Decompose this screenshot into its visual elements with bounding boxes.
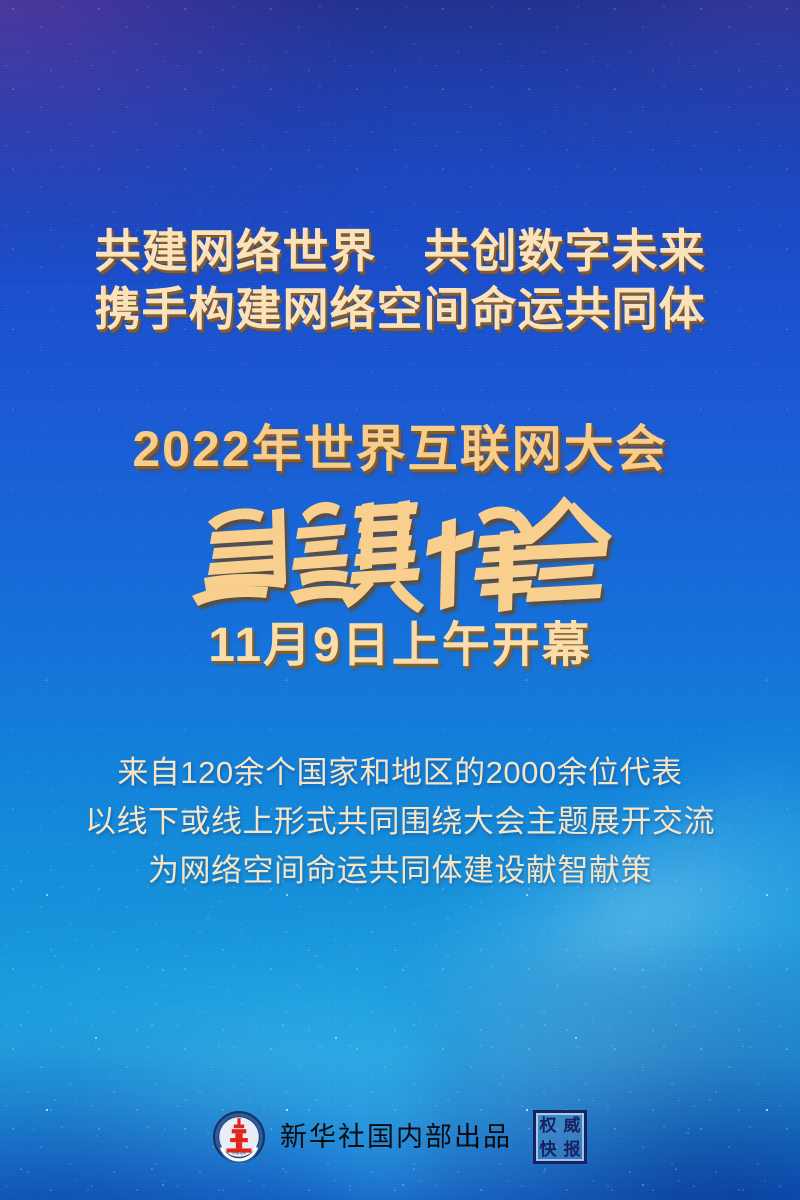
headline-line-1: 共建网络世界 共创数字未来 [0, 222, 800, 280]
headline-line-2: 携手构建网络空间命运共同体 [0, 280, 800, 338]
body-paragraph: 来自120余个国家和地区的2000余位代表 以线下或线上形式共同围绕大会主题展开… [0, 748, 800, 895]
conference-title: 2022年世界互联网大会 [0, 418, 800, 480]
xinhua-news-agency-logo-icon: XINHUA [213, 1111, 265, 1163]
poster-canvas: 共建网络世界 共创数字未来 携手构建网络空间命运共同体 2022年世界互联网大会 [0, 0, 800, 1200]
body-line-2: 以线下或线上形式共同围绕大会主题展开交流 [0, 797, 800, 846]
poster-content: 共建网络世界 共创数字未来 携手构建网络空间命运共同体 2022年世界互联网大会 [0, 0, 800, 1200]
calligraphy-wuzhen-summit [0, 492, 800, 612]
headline-slogan: 共建网络世界 共创数字未来 携手构建网络空间命运共同体 [0, 222, 800, 338]
calligraphy-char-wu [192, 508, 286, 606]
body-line-3: 为网络空间命运共同体建设献智献策 [0, 846, 800, 895]
calligraphy-char-hui [524, 496, 612, 602]
calligraphy-char-feng [426, 507, 538, 612]
footer-credit-bar: XINHUA 新华社国内部出品 权 威 快 报 [0, 1110, 800, 1164]
calligraphy-char-zhen [290, 500, 424, 613]
seal-char-4: 报 [564, 1141, 581, 1158]
svg-text:XINHUA: XINHUA [232, 1152, 246, 1156]
seal-char-2: 威 [564, 1117, 581, 1134]
seal-char-3: 快 [540, 1141, 557, 1158]
body-line-1: 来自120余个国家和地区的2000余位代表 [0, 748, 800, 797]
authority-express-seal: 权 威 快 报 [533, 1110, 587, 1164]
event-date: 11月9日上午开幕 [0, 616, 800, 676]
seal-char-1: 权 [540, 1117, 557, 1134]
footer-credit-text: 新华社国内部出品 [280, 1120, 512, 1154]
